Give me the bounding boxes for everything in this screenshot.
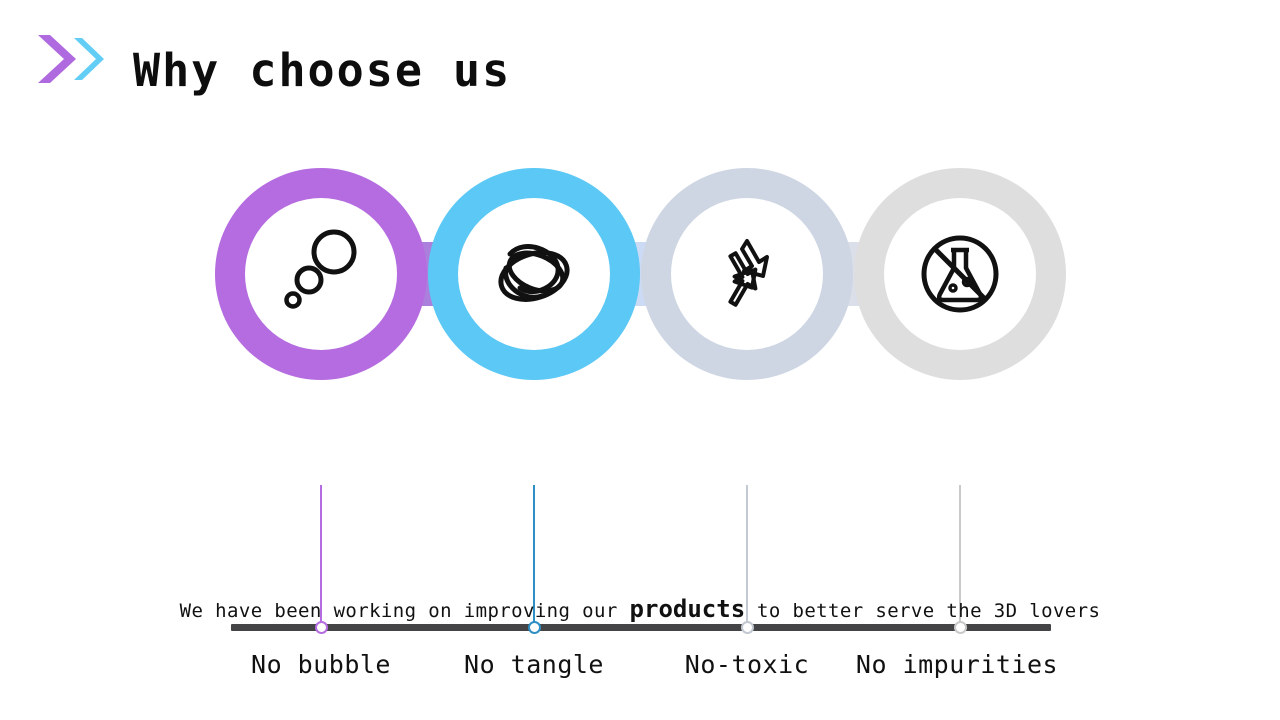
slide-caption: We have been working on improving our pr…: [0, 594, 1280, 626]
chevron-right-shape: [74, 38, 104, 80]
double-chevron-logo: [30, 30, 110, 88]
slide-root: Why choose us: [0, 0, 1280, 720]
timeline-layer: No bubble No tangle No-toxic No impuriti…: [0, 130, 1280, 580]
step-label-no-tangle: No tangle: [464, 648, 604, 682]
chevron-left-shape: [38, 35, 76, 83]
process-diagram: No bubble No tangle No-toxic No impuriti…: [0, 130, 1280, 580]
caption-part-1: We have been working on improving our: [180, 600, 618, 622]
caption-emphasis: products: [630, 595, 746, 623]
step-label-no-bubble: No bubble: [251, 648, 391, 682]
caption-part-2: to better serve the 3D lovers: [757, 600, 1100, 622]
slide-header: Why choose us: [0, 0, 1280, 130]
step-label-no-impurities: No impurities: [856, 648, 1058, 682]
page-title: Why choose us: [133, 42, 511, 100]
step-label-no-toxic: No-toxic: [685, 648, 809, 682]
